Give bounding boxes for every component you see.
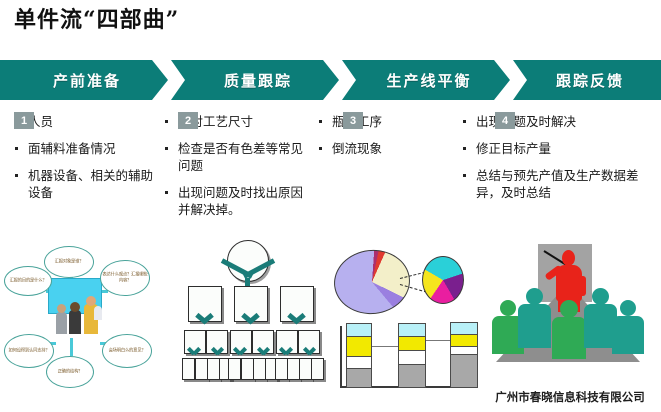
tree-node-l3 <box>311 358 324 380</box>
mindmap-bubble: 会场明白么的意见？ <box>102 334 152 368</box>
step-number-badge-1: 1 <box>14 112 34 129</box>
bar-segment <box>450 352 478 388</box>
list-item: 机器设备、相关的辅助设备 <box>12 167 162 201</box>
list-item: 总结与预先产值及生产数据差异，及时总结 <box>460 167 656 201</box>
bar-segment <box>346 366 372 388</box>
banner-step-1-label: 产前准备 <box>53 70 121 91</box>
banner-step-2-label: 质量跟踪 <box>224 70 292 91</box>
pie-chart-detail <box>422 256 464 304</box>
banner-step-4-label: 跟踪反馈 <box>556 70 624 91</box>
bar-segment <box>346 323 372 337</box>
bar-segment <box>398 362 426 388</box>
step-number-badge-4: 4 <box>495 112 515 129</box>
page-title: 单件流“四部曲” <box>14 4 179 36</box>
list-item: 面辅料准备情况 <box>12 140 162 157</box>
company-footer: 广州市春晓信息科技有限公司 <box>482 390 658 404</box>
mindmap-bubble: 汇报的目的是什么？ <box>4 266 52 296</box>
banner-step-2[interactable]: 质量跟踪 <box>171 60 339 100</box>
bar-segment <box>450 322 478 335</box>
bullet-column-3: 瓶颈工序 倒流现象 <box>316 113 456 167</box>
mindmap-connector <box>70 338 73 356</box>
meeting-people-icon <box>56 300 104 334</box>
banner-step-1[interactable]: 产前准备 <box>0 60 168 100</box>
step-number-badge-2: 2 <box>178 112 198 129</box>
bullet-column-1: 人员 面辅料准备情况 机器设备、相关的辅助设备 <box>12 113 162 211</box>
bullet-column-4: 出现问题及时解决 修正目标产量 总结与预先产值及生产数据差异，及时总结 <box>460 113 656 211</box>
list-item: 检查是否有色差等常见问题 <box>162 140 314 174</box>
banner-step-4[interactable]: 跟踪反馈 <box>513 60 661 100</box>
tree-node-l3 <box>182 358 195 380</box>
list-item: 修正目标产量 <box>460 140 656 157</box>
bar-segment <box>398 323 426 337</box>
presenter-illustration <box>486 238 658 412</box>
charts-illustration <box>334 238 484 412</box>
bar-segment <box>346 334 372 357</box>
mindmap-bubble: 表达什么观点？汇报哪些内容？ <box>100 260 150 296</box>
org-tree-illustration <box>170 238 328 412</box>
tree-node-l3 <box>228 358 241 380</box>
list-item: 出现问题及时解决 <box>460 113 656 130</box>
banner-step-3-label: 生产线平衡 <box>386 70 471 91</box>
step-number-badge-3: 3 <box>343 112 363 129</box>
list-item: 倒流现象 <box>316 140 456 157</box>
list-item: 出现问题及时找出原因并解决掉。 <box>162 184 314 218</box>
slide-canvas: 单件流“四部曲” 产前准备 质量跟踪 生产线平衡 跟踪反馈 1 2 3 4 人员… <box>0 0 661 412</box>
pie-chart-main <box>331 246 413 318</box>
bullet-columns: 人员 面辅料准备情况 机器设备、相关的辅助设备 核对工艺尺寸 检查是否有色差等常… <box>0 113 661 238</box>
list-item: 瓶颈工序 <box>316 113 456 130</box>
mindmap-bubble: 正确的结构？ <box>46 356 94 388</box>
mindmap-illustration: 汇报对象是谁？ 汇报的目的是什么？ 表达什么观点？汇报哪些内容？ 如何设得到认同… <box>2 238 162 412</box>
list-item: 人员 <box>12 113 162 130</box>
mindmap-bubble: 如何设得到认同支持？ <box>4 334 54 368</box>
banner-step-3[interactable]: 生产线平衡 <box>342 60 510 100</box>
bullet-column-2: 核对工艺尺寸 检查是否有色差等常见问题 出现问题及时找出原因并解决掉。 <box>162 113 314 228</box>
process-banner: 产前准备 质量跟踪 生产线平衡 跟踪反馈 1 2 3 4 <box>0 60 661 100</box>
mindmap-bubble: 汇报对象是谁？ <box>44 246 94 278</box>
